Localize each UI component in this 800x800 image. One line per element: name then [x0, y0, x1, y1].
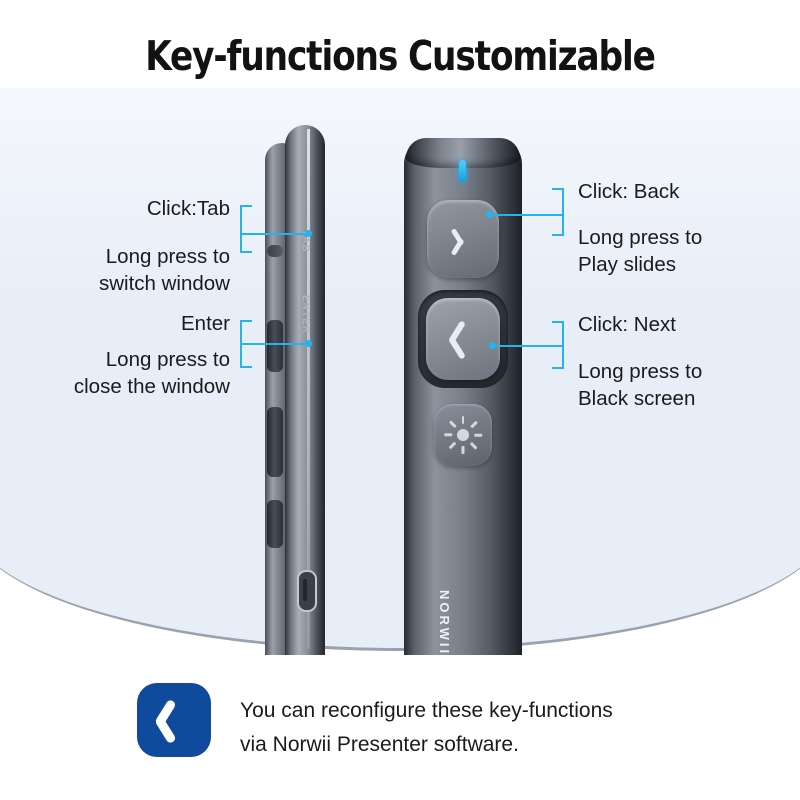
annotation-left-1-title: Enter [30, 310, 230, 337]
footer-line-1: You can reconfigure these key-functions [240, 694, 613, 728]
next-button[interactable] [426, 298, 500, 380]
page-title: Key-functions Customizable [28, 32, 772, 80]
annotation-left-0-detail2: switch window [30, 270, 230, 297]
connector-right-0-bottom-tick [552, 234, 564, 236]
device-side-view: TAB ENTER [255, 125, 335, 655]
side-button-lower[interactable] [267, 500, 283, 548]
annotation-left-0-title: Click:Tab [30, 195, 230, 222]
annotation-right-0-title: Click: Back [578, 178, 679, 205]
status-led-icon [459, 160, 466, 182]
connector-right-0-dot [486, 211, 493, 218]
side-button-enter[interactable] [267, 407, 283, 477]
footer-text: You can reconfigure these key-functions … [240, 694, 613, 762]
connector-left-1-top-tick [240, 320, 252, 322]
infographic-stage: Key-functions Customizable TAB ENTER [0, 0, 800, 800]
next-chevron-icon [454, 320, 478, 358]
annotation-right-0-detail2: Play slides [578, 251, 676, 278]
side-label-enter: ENTER [300, 295, 311, 334]
annotation-right-0-detail1: Long press to [578, 224, 702, 251]
connector-left-0-dot [305, 230, 312, 237]
connector-right-0-lead [489, 214, 564, 216]
footer-line-2: via Norwii Presenter software. [240, 728, 613, 762]
norwii-presenter-chevron-icon [137, 683, 211, 757]
connector-left-0-bottom-tick [240, 251, 252, 253]
connector-left-0-top-tick [240, 205, 252, 207]
annotation-right-1-detail1: Long press to [578, 358, 702, 385]
connector-left-1-bottom-tick [240, 366, 252, 368]
connector-right-1-top-tick [552, 321, 564, 323]
connector-right-0-vertical [562, 188, 564, 236]
connector-left-1-lead [240, 343, 308, 345]
connector-right-1-bottom-tick [552, 367, 564, 369]
side-button-top[interactable] [267, 245, 283, 257]
annotation-left-1-detail1: Long press to [10, 346, 230, 373]
annotation-left-0-detail1: Long press to [30, 243, 230, 270]
laser-button[interactable] [434, 404, 492, 466]
annotation-right-1-title: Click: Next [578, 311, 676, 338]
chevron-right-icon [161, 699, 189, 741]
connector-right-1-lead [492, 345, 564, 347]
annotation-left-1-detail2: close the window [10, 373, 230, 400]
usb-c-port [297, 570, 317, 612]
brand-label: NORWII [437, 590, 452, 656]
connector-right-0-top-tick [552, 188, 564, 190]
connector-left-1-dot [305, 340, 312, 347]
back-chevron-icon [453, 226, 475, 252]
connector-left-0-lead [240, 233, 308, 235]
connector-right-1-dot [489, 342, 496, 349]
side-button-tab[interactable] [267, 320, 283, 372]
connector-left-0-vertical [240, 205, 242, 253]
annotation-right-1-detail2: Black screen [578, 385, 695, 412]
